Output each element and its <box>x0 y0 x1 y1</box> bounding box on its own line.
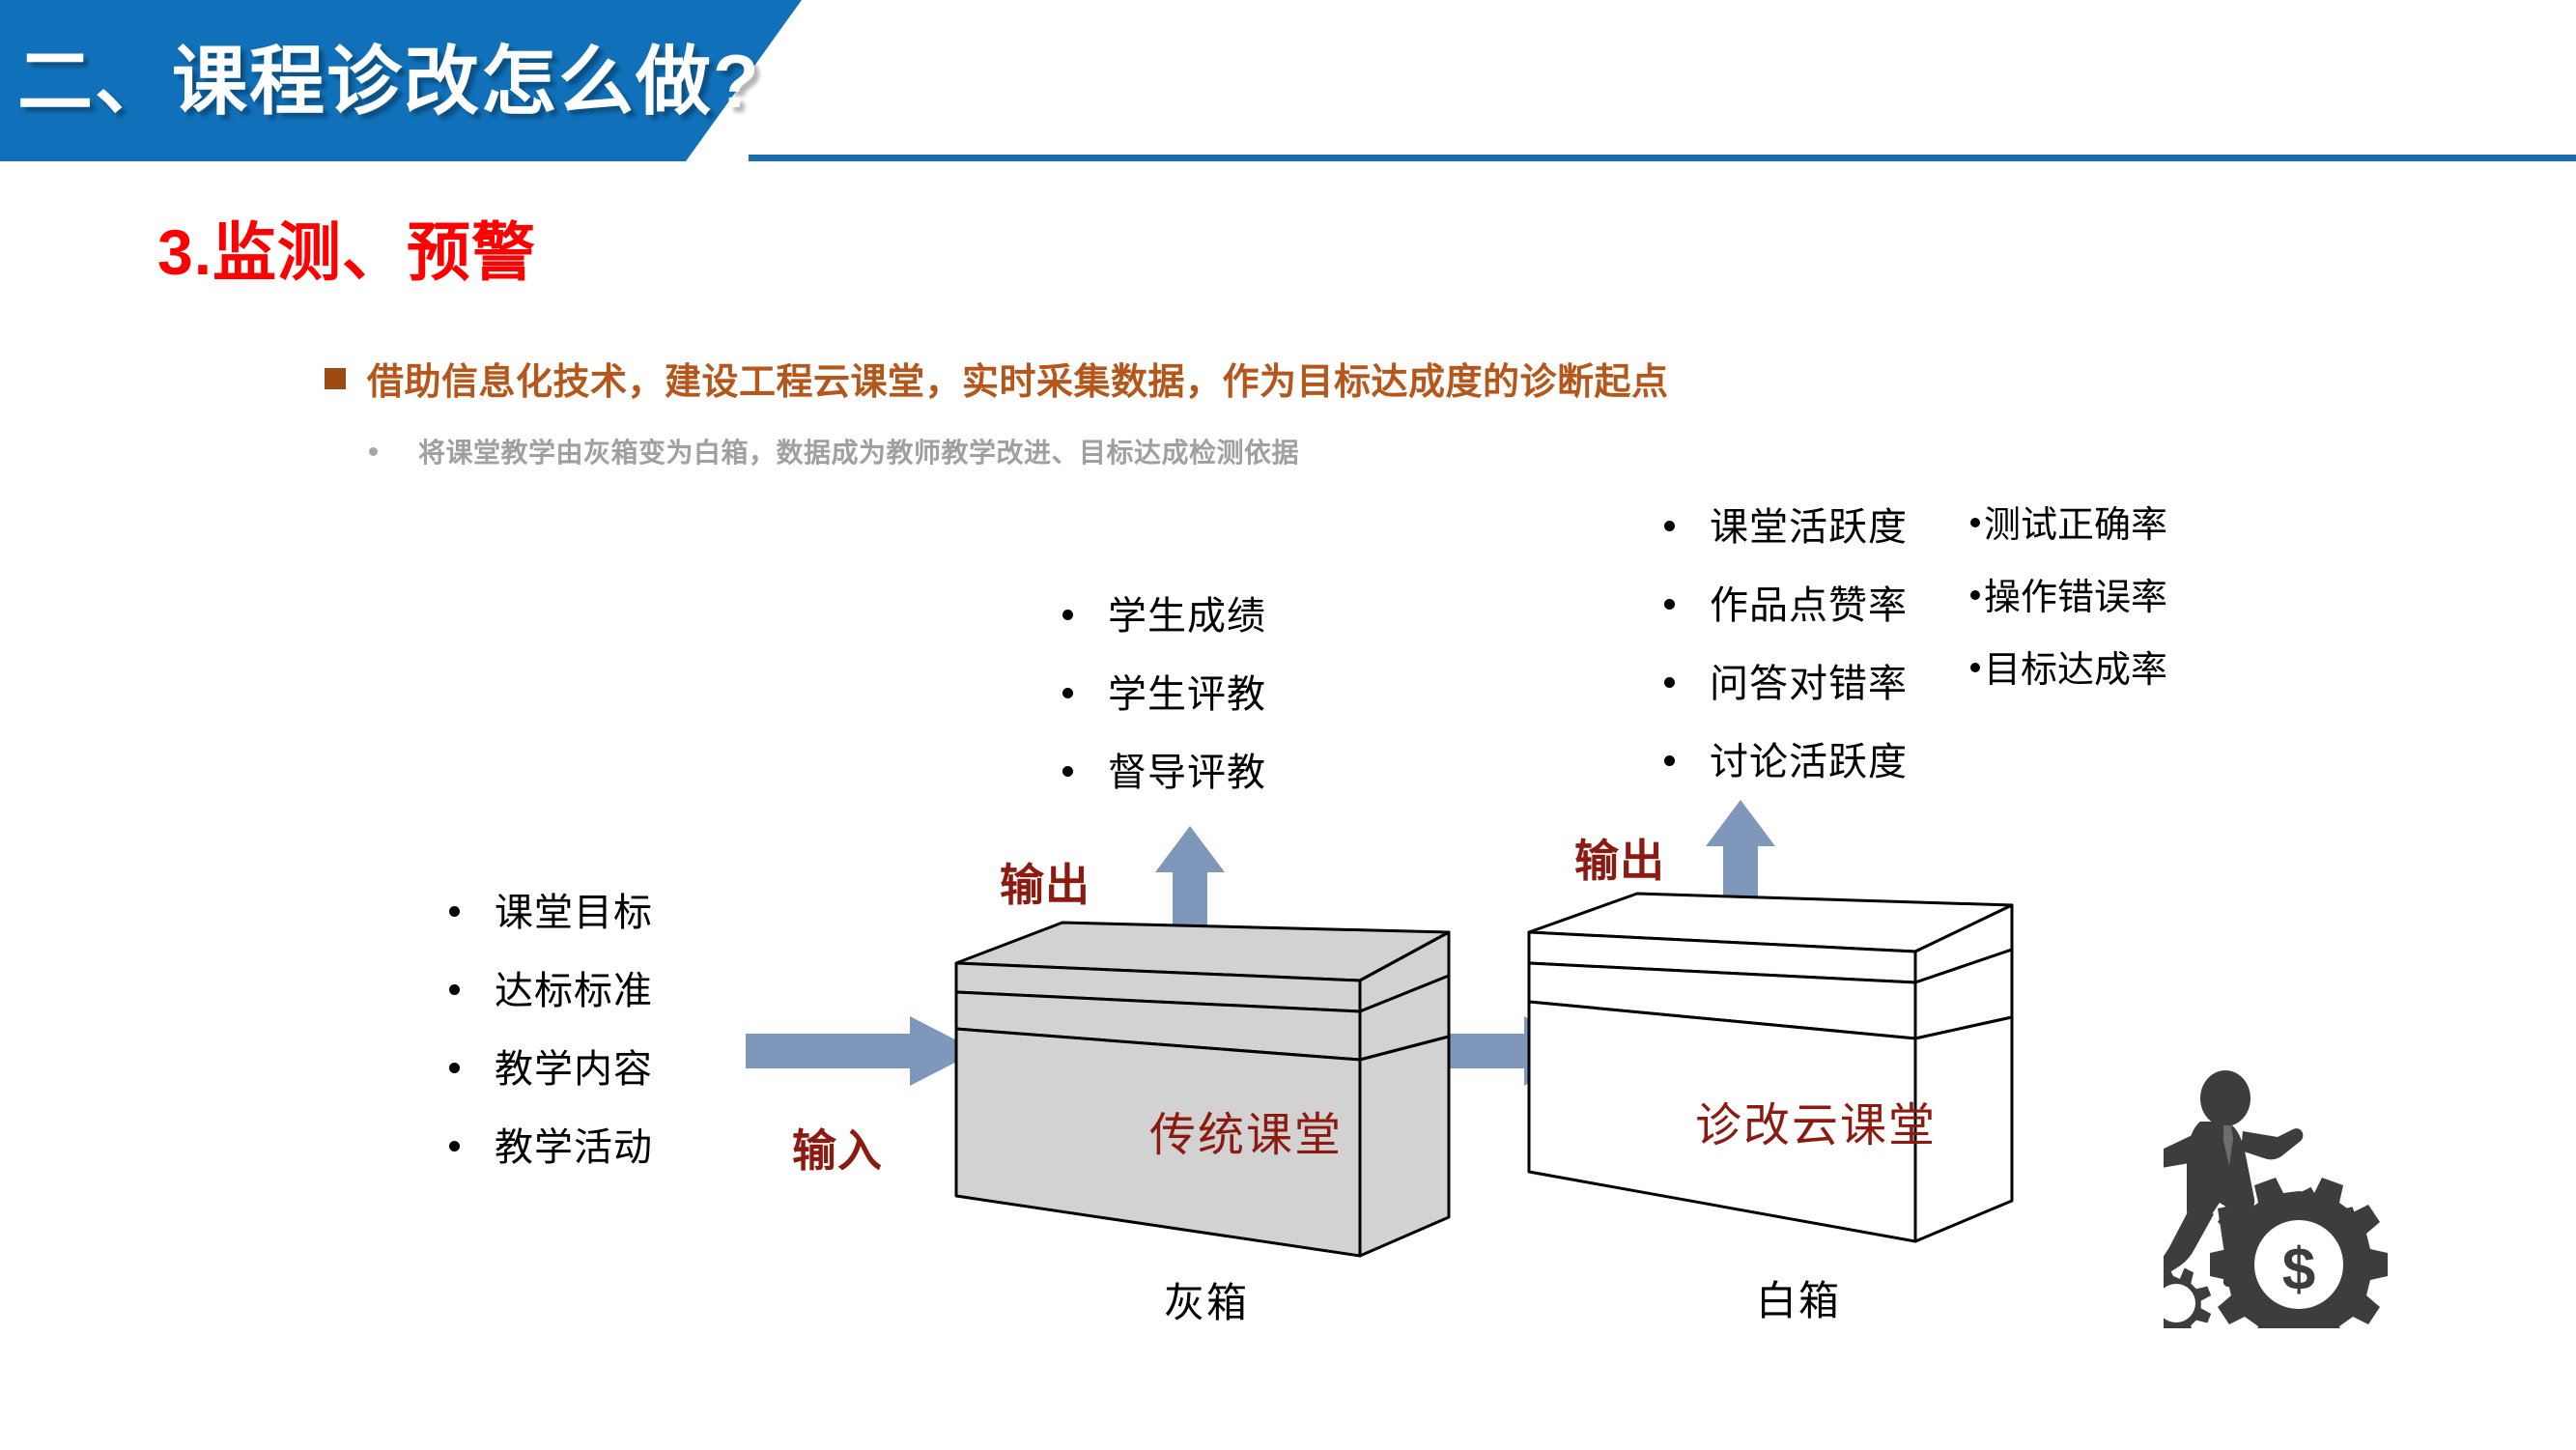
list-item: 讨论活跃度 <box>1664 730 1908 786</box>
header-rule <box>749 155 2576 161</box>
input-arrow-label: 输入 <box>792 1116 883 1180</box>
cloud-output-arrow-label: 输出 <box>1574 826 1665 890</box>
gray-box-shape <box>956 923 1449 1256</box>
list-item-label: 讨论活跃度 <box>1710 730 1908 786</box>
list-item-label: 作品点赞率 <box>1710 574 1908 630</box>
slide-canvas: 二、课程诊改怎么做? 3.监测、预警 借助信息化技术，建设工程云课堂，实时采集数… <box>0 0 2576 1450</box>
section-title: 3.监测、预警 <box>157 201 536 294</box>
list-item: 问答对错率 <box>1664 652 1908 708</box>
white-box-caption: 诊改云课堂 <box>1695 1087 1937 1154</box>
gray-box-caption: 传统课堂 <box>1149 1096 1343 1164</box>
secondary-bullet: 将课堂教学由灰箱变为白箱，数据成为教师教学改进、目标达成检测依据 <box>369 432 1299 470</box>
primary-bullet-text: 借助信息化技术，建设工程云课堂，实时采集数据，作为目标达成度的诊断起点 <box>367 352 1669 405</box>
secondary-bullet-text: 将课堂教学由灰箱变为白箱，数据成为教师教学改进、目标达成检测依据 <box>418 432 1299 470</box>
square-bullet-icon <box>325 368 346 389</box>
bullet-dot-icon <box>1664 677 1675 688</box>
list-item: 学生成绩 <box>1062 584 1266 640</box>
bullet-dot-icon <box>449 906 460 917</box>
cloud-metrics-list: 测试正确率 操作错误率 目标达成率 <box>1970 495 2167 712</box>
list-item: 作品点赞率 <box>1664 574 1908 630</box>
traditional-output-list: 学生成绩 学生评教 督导评教 <box>1062 584 1266 819</box>
list-item: 课堂活跃度 <box>1664 496 1908 552</box>
bullet-dot-icon <box>1664 755 1675 766</box>
bullet-dot-icon <box>1970 518 1980 527</box>
list-item: 学生评教 <box>1062 663 1266 719</box>
list-item-label: 课堂活跃度 <box>1710 496 1908 552</box>
bullet-dot-icon <box>1664 599 1675 610</box>
bullet-dot-icon <box>449 1141 460 1151</box>
bullet-dot-icon <box>1062 610 1073 620</box>
list-item: 目标达成率 <box>1970 640 2167 693</box>
list-item: 教学活动 <box>449 1116 653 1172</box>
bullet-dot-icon <box>1970 590 1980 600</box>
list-item: 督导评教 <box>1062 741 1266 797</box>
header-title: 二、课程诊改怎么做? <box>17 8 694 143</box>
list-item: 教学内容 <box>449 1038 653 1094</box>
list-item-label: 测试正确率 <box>1984 495 2167 548</box>
list-item-label: 学生评教 <box>1108 663 1266 719</box>
cloud-output-list: 课堂活跃度 作品点赞率 问答对错率 讨论活跃度 <box>1664 496 1908 809</box>
list-item: 操作错误率 <box>1970 567 2167 620</box>
traditional-output-arrow-label: 输出 <box>1000 850 1090 914</box>
list-item-label: 课堂目标 <box>495 881 653 937</box>
businessman-gears-money-icon: $ <box>2164 1067 2415 1328</box>
white-box-shape <box>1529 894 2012 1241</box>
bullet-dot-icon <box>449 984 460 995</box>
bullet-dot-icon <box>1970 663 1980 672</box>
list-item-label: 操作错误率 <box>1984 567 2167 620</box>
list-item-label: 目标达成率 <box>1984 640 2167 693</box>
list-item-label: 达标标准 <box>495 959 653 1015</box>
white-box-bottom-label: 白箱 <box>1756 1268 1841 1327</box>
list-item-label: 教学活动 <box>495 1116 653 1172</box>
list-item-label: 教学内容 <box>495 1038 653 1094</box>
list-item-label: 督导评教 <box>1108 741 1266 797</box>
input-arrow-icon <box>746 1016 977 1086</box>
list-item: 测试正确率 <box>1970 495 2167 548</box>
list-item-label: 学生成绩 <box>1108 584 1266 640</box>
gray-box-bottom-label: 灰箱 <box>1164 1270 1249 1329</box>
bullet-dot-icon <box>1664 521 1675 531</box>
list-item: 课堂目标 <box>449 881 653 937</box>
bullet-dot-icon <box>1062 688 1073 698</box>
primary-bullet: 借助信息化技术，建设工程云课堂，实时采集数据，作为目标达成度的诊断起点 <box>325 352 1669 405</box>
bullet-dot-icon <box>1062 766 1073 777</box>
svg-text:$: $ <box>2282 1237 2315 1303</box>
input-factors-list: 课堂目标 达标标准 教学内容 教学活动 <box>449 881 653 1194</box>
list-item-label: 问答对错率 <box>1710 652 1908 708</box>
bullet-dot-icon <box>449 1063 460 1073</box>
dot-bullet-icon <box>369 447 378 456</box>
list-item: 达标标准 <box>449 959 653 1015</box>
